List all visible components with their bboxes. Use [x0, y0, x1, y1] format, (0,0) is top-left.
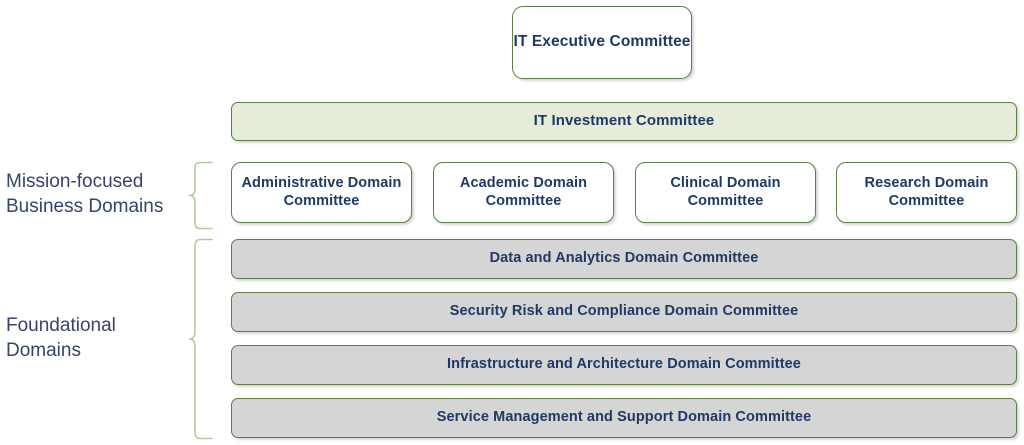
- group-label-mission-focused-business-domains: Mission-focused Business Domains: [6, 169, 186, 219]
- domain-box-label: Clinical Domain Committee: [636, 175, 815, 210]
- it-investment-committee-label: IT Investment Committee: [534, 112, 715, 130]
- foundational-bar-label: Infrastructure and Architecture Domain C…: [447, 356, 801, 374]
- domain-box-label: Academic Domain Committee: [434, 175, 613, 210]
- domain-box-label: Research Domain Committee: [837, 175, 1016, 210]
- governance-diagram: IT Executive Committee IT Investment Com…: [0, 0, 1024, 445]
- curly-brace-icon-foundational: [188, 238, 214, 440]
- foundational-bar-security-risk-and-compliance[interactable]: Security Risk and Compliance Domain Comm…: [231, 292, 1017, 332]
- it-executive-committee-label: IT Executive Committee: [513, 33, 690, 52]
- foundational-bar-label: Security Risk and Compliance Domain Comm…: [450, 303, 799, 321]
- it-executive-committee-box[interactable]: IT Executive Committee: [512, 6, 692, 79]
- domain-box-research[interactable]: Research Domain Committee: [836, 162, 1017, 223]
- it-investment-committee-bar[interactable]: IT Investment Committee: [231, 102, 1017, 141]
- foundational-bar-service-management-and-support[interactable]: Service Management and Support Domain Co…: [231, 398, 1017, 438]
- foundational-bar-data-and-analytics[interactable]: Data and Analytics Domain Committee: [231, 239, 1017, 279]
- curly-brace-icon-mission-focused: [188, 161, 214, 230]
- group-label-foundational-domains: Foundational Domains: [6, 313, 186, 363]
- foundational-bar-label: Data and Analytics Domain Committee: [490, 250, 759, 268]
- domain-box-clinical[interactable]: Clinical Domain Committee: [635, 162, 816, 223]
- foundational-bar-infrastructure-and-architecture[interactable]: Infrastructure and Architecture Domain C…: [231, 345, 1017, 385]
- domain-box-academic[interactable]: Academic Domain Committee: [433, 162, 614, 223]
- domain-box-label: Administrative Domain Committee: [232, 175, 411, 210]
- domain-box-administrative[interactable]: Administrative Domain Committee: [231, 162, 412, 223]
- foundational-bar-label: Service Management and Support Domain Co…: [437, 409, 812, 427]
